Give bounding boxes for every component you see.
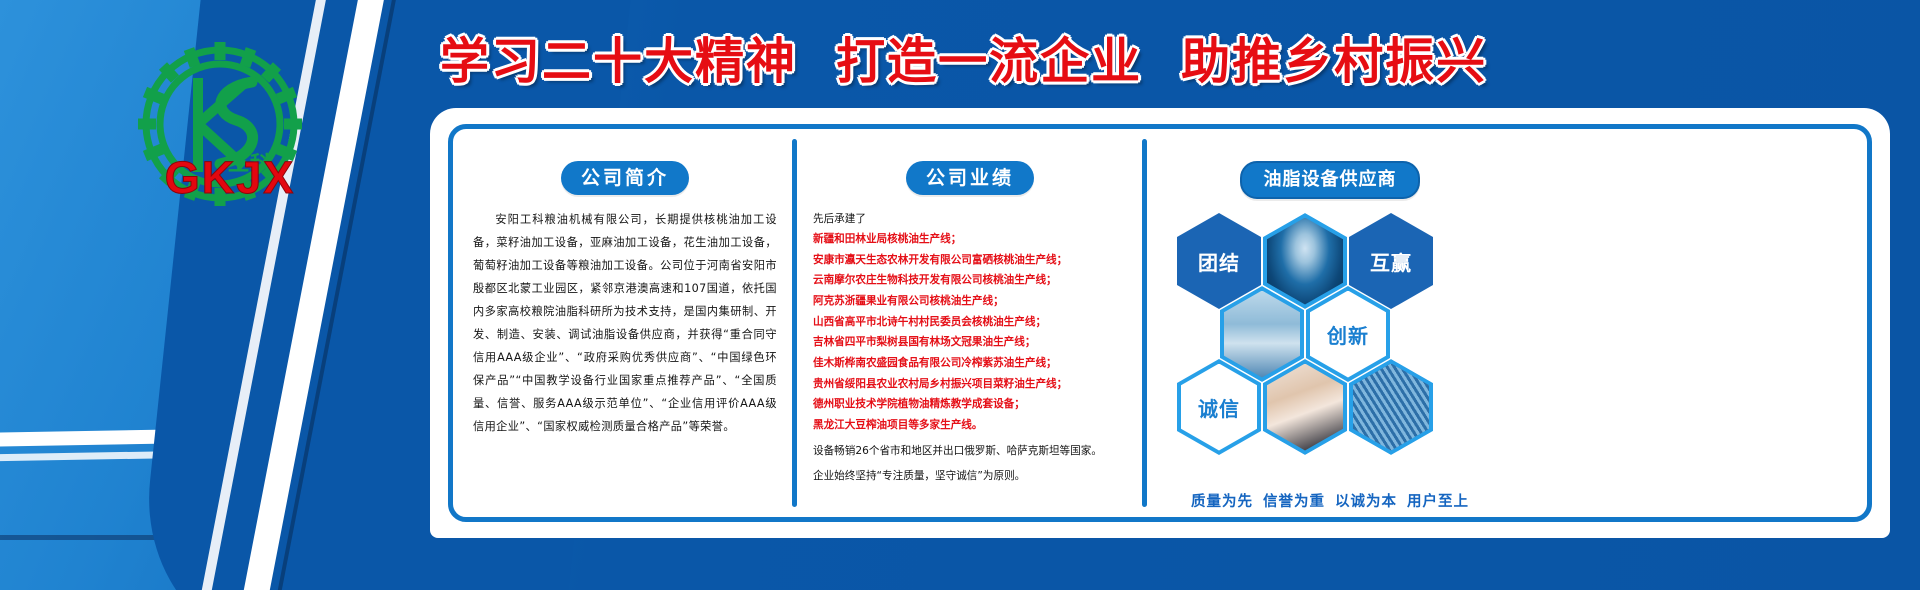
performance-list-item: 新疆和田林业局核桃油生产线；: [813, 229, 1127, 250]
slogan-phrase: 用户至上: [1407, 494, 1469, 510]
column-supplier: 油脂设备供应商 团结 互赢: [1145, 131, 1515, 515]
performance-list-item: 安康市瀛天生态农林开发有限公司富硒核桃油生产线；: [813, 250, 1127, 271]
poster-canvas: 工科 GKJX 学习二十大精神 打造一流企业 助推乡村振兴 公司简介 安阳工科粮…: [0, 0, 1920, 590]
hex-unity-label: 团结: [1198, 247, 1240, 276]
section-title-supplier: 油脂设备供应商: [1240, 161, 1420, 199]
headline-part-1: 学习二十大精神: [440, 33, 797, 90]
slogan-phrase: 质量为先: [1191, 494, 1253, 510]
performance-list-item: 吉林省四平市梨树县国有林场文冠果油生产线；: [813, 332, 1127, 353]
performance-list-item: 黑龙江大豆榨油项目等多家生产线。: [813, 415, 1127, 436]
hex-cluster: 团结 互赢 创新: [1163, 213, 1497, 461]
slogan-phrase: 信誉为重: [1263, 494, 1325, 510]
performance-list-item: 佳木斯桦南农盛园食品有限公司冷榨紫苏油生产线；: [813, 353, 1127, 374]
column-company-performance: 公司业绩 先后承建了 新疆和田林业局核桃油生产线；安康市瀛天生态农林开发有限公司…: [795, 131, 1145, 515]
hex-winwin-label: 互赢: [1370, 247, 1412, 276]
column-company-intro: 公司简介 安阳工科粮油机械有限公司，长期提供核桃油加工设备，菜籽油加工设备，亚麻…: [455, 131, 795, 515]
intro-body-text: 安阳工科粮油机械有限公司，长期提供核桃油加工设备，菜籽油加工设备，亚麻油加工设备…: [473, 209, 777, 439]
content-columns: 公司简介 安阳工科粮油机械有限公司，长期提供核桃油加工设备，菜籽油加工设备，亚麻…: [455, 131, 1865, 515]
intro-paragraph: 安阳工科粮油机械有限公司，长期提供核桃油加工设备，菜籽油加工设备，亚麻油加工设备…: [473, 209, 777, 439]
performance-lead-text: 先后承建了: [813, 209, 1127, 229]
slogan-phrase: 以诚为本: [1335, 494, 1397, 510]
performance-list: 新疆和田林业局核桃油生产线；安康市瀛天生态农林开发有限公司富硒核桃油生产线；云南…: [813, 229, 1127, 436]
performance-list-item: 贵州省绥阳县农业农村局乡村振兴项目菜籽油生产线；: [813, 374, 1127, 395]
logo-english-text: GKJX: [140, 152, 320, 204]
section-title-intro: 公司简介: [561, 161, 689, 195]
section-title-performance: 公司业绩: [906, 161, 1034, 195]
performance-list-item: 山西省高平市北诗午村村民委员会核桃油生产线；: [813, 312, 1127, 333]
headline-part-3: 助推乡村振兴: [1181, 33, 1487, 90]
performance-list-item: 德州职业技术学院植物油精炼教学成套设备；: [813, 394, 1127, 415]
supplier-slogan: 质量为先信誉为重以诚为本用户至上: [1145, 490, 1515, 511]
performance-footer-1: 设备畅销26个省市和地区并出口俄罗斯、哈萨克斯坦等国家。: [813, 441, 1127, 462]
headline-part-2: 打造一流企业: [836, 33, 1142, 90]
page-title: 学习二十大精神 打造一流企业 助推乡村振兴: [430, 22, 1490, 93]
performance-list-item: 云南摩尔农庄生物科技开发有限公司核桃油生产线；: [813, 270, 1127, 291]
performance-footer-2: 企业始终坚持“专注质量，坚守诚信”为原则。: [813, 466, 1127, 487]
performance-list-item: 阿克苏浙疆果业有限公司核桃油生产线；: [813, 291, 1127, 312]
